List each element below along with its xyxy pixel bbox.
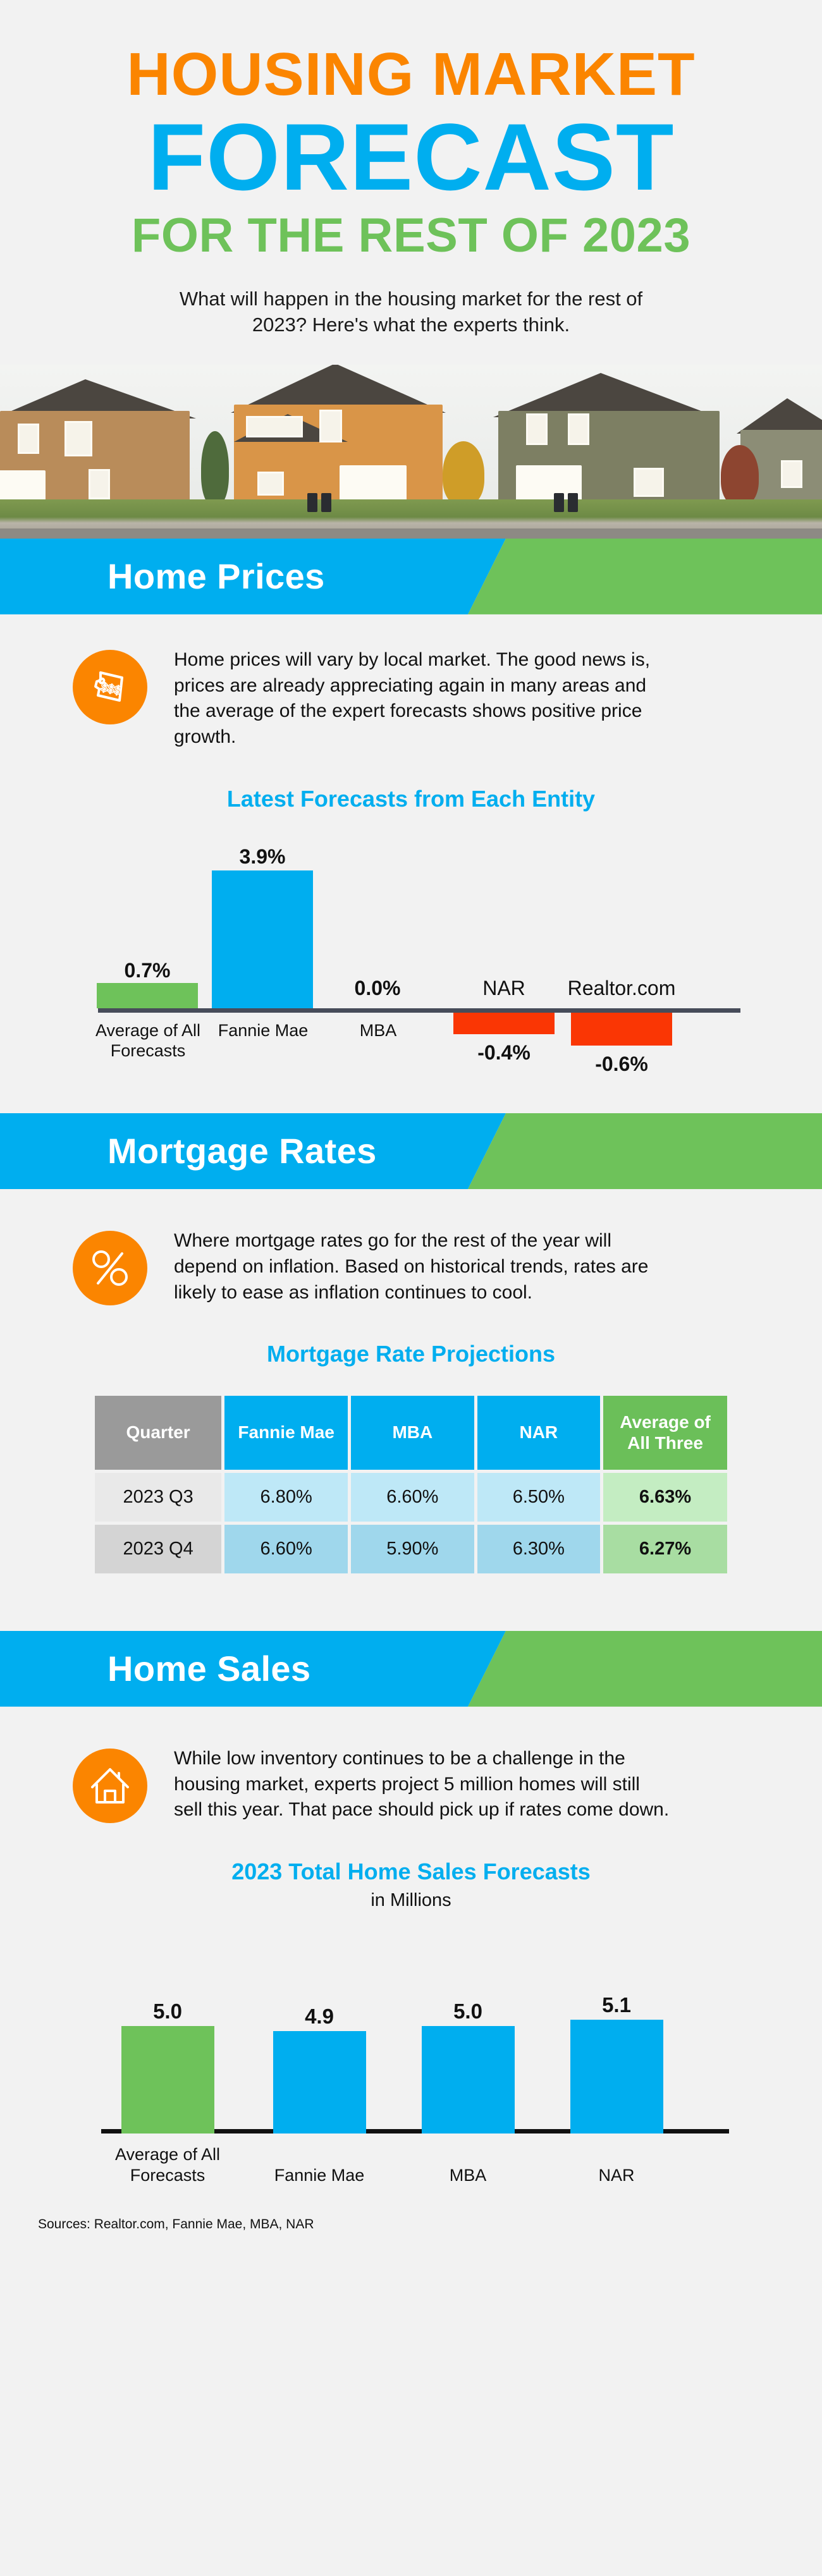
chart2-bar-2 bbox=[422, 2026, 515, 2133]
house-icon bbox=[73, 1749, 147, 1823]
cell-nar: 6.30% bbox=[477, 1525, 600, 1573]
house-3-window-b bbox=[568, 413, 589, 445]
chart2-label-1: Fannie Mae bbox=[247, 2165, 392, 2185]
chart1-value-2: 0.0% bbox=[322, 977, 433, 1000]
table-header-row: Quarter Fannie Mae MBA NAR Average of Al… bbox=[95, 1396, 727, 1469]
cell-quarter: 2023 Q3 bbox=[95, 1473, 221, 1522]
chart2-bar-0 bbox=[121, 2026, 214, 2133]
chart1-title: Latest Forecasts from Each Entity bbox=[0, 786, 822, 812]
section-title-home-prices: Home Prices bbox=[0, 539, 822, 614]
chart1-value-4: -0.6% bbox=[566, 1053, 677, 1076]
cell-nar: 6.50% bbox=[477, 1473, 600, 1522]
house-2-window-b bbox=[319, 410, 342, 443]
home-sales-body: While low inventory continues to be a ch… bbox=[174, 1746, 673, 1823]
trash-bin-3 bbox=[554, 493, 564, 512]
chart1-value-0: 0.7% bbox=[92, 959, 203, 982]
chart-total-home-sales: 5.0 Average of All Forecasts 4.9 Fannie … bbox=[66, 1934, 756, 2193]
chart1-label-0: Average of All Forecasts bbox=[88, 1021, 208, 1061]
header-average-all-three: Average of All Three bbox=[603, 1396, 727, 1469]
house-4-roof bbox=[737, 398, 822, 434]
chart1-column-1: 3.9% Fannie Mae bbox=[207, 839, 317, 1092]
house-4-window-a bbox=[781, 460, 802, 488]
cell-fannie-mae: 6.80% bbox=[224, 1473, 348, 1522]
page-title-line3: FOR THE REST OF 2023 bbox=[0, 212, 822, 260]
chart2-column-1: 4.9 Fannie Mae bbox=[247, 1934, 392, 2193]
chart2-bar-3 bbox=[570, 2020, 663, 2133]
rate-table-title: Mortgage Rate Projections bbox=[0, 1341, 822, 1367]
chart1-column-3: NAR -0.4% bbox=[448, 839, 559, 1092]
house-3-window-c bbox=[634, 468, 664, 497]
chart2-label-2: MBA bbox=[395, 2165, 541, 2185]
chart2-subtitle: in Millions bbox=[0, 1890, 822, 1911]
table-row: 2023 Q4 6.60% 5.90% 6.30% 6.27% bbox=[95, 1525, 727, 1573]
mortgage-rates-body: Where mortgage rates go for the rest of … bbox=[174, 1228, 673, 1305]
chart2-value-0: 5.0 bbox=[95, 1999, 240, 2024]
house-1-window-b bbox=[64, 421, 92, 456]
home-prices-body: Home prices will vary by local market. T… bbox=[174, 647, 673, 750]
cell-average: 6.63% bbox=[603, 1473, 727, 1522]
mortgage-rate-projections-table: Quarter Fannie Mae MBA NAR Average of Al… bbox=[92, 1393, 730, 1576]
section-title-home-sales: Home Sales bbox=[0, 1631, 822, 1707]
infographic-page: HOUSING MARKET FORECAST FOR THE REST OF … bbox=[0, 0, 822, 2576]
chart2-column-2: 5.0 MBA bbox=[395, 1934, 541, 2193]
cell-quarter: 2023 Q4 bbox=[95, 1525, 221, 1573]
cell-mba: 5.90% bbox=[351, 1525, 474, 1573]
house-1 bbox=[0, 379, 202, 506]
house-2 bbox=[218, 365, 458, 506]
chart2-label-3: NAR bbox=[544, 2165, 689, 2185]
section-banner-mortgage-rates: Mortgage Rates bbox=[0, 1113, 822, 1189]
chart2-title: 2023 Total Home Sales Forecasts bbox=[0, 1859, 822, 1885]
chart1-value-3: -0.4% bbox=[448, 1041, 560, 1065]
chart2-column-0: 5.0 Average of All Forecasts bbox=[95, 1934, 240, 2193]
header-mba: MBA bbox=[351, 1396, 474, 1469]
home-sales-intro: While low inventory continues to be a ch… bbox=[0, 1707, 822, 1823]
chart2-value-1: 4.9 bbox=[247, 2005, 392, 2029]
section-banner-home-sales: Home Sales bbox=[0, 1631, 822, 1707]
chart2-value-3: 5.1 bbox=[544, 1993, 689, 2017]
section-title-mortgage-rates: Mortgage Rates bbox=[0, 1113, 822, 1189]
chart1-bar-3 bbox=[453, 1013, 555, 1034]
page-title-line1: HOUSING MARKET bbox=[0, 44, 822, 105]
trash-bin-1 bbox=[307, 493, 317, 512]
chart1-bar-0 bbox=[97, 983, 198, 1008]
chart2-value-2: 5.0 bbox=[395, 1999, 541, 2024]
house-1-window-a bbox=[18, 424, 39, 454]
photo-road bbox=[0, 528, 822, 539]
price-tag-dollar-icon: $$$ bbox=[73, 650, 147, 724]
cell-average: 6.27% bbox=[603, 1525, 727, 1573]
neighborhood-photo bbox=[0, 365, 822, 539]
house-3-window-a bbox=[526, 413, 548, 445]
chart1-bar-4 bbox=[571, 1013, 672, 1046]
header-fannie-mae: Fannie Mae bbox=[224, 1396, 348, 1469]
trash-bin-4 bbox=[568, 493, 578, 512]
home-prices-intro: $$$ Home prices will vary by local marke… bbox=[0, 614, 822, 750]
sources-note: Sources: Realtor.com, Fannie Mae, MBA, N… bbox=[0, 2193, 822, 2257]
header-nar: NAR bbox=[477, 1396, 600, 1469]
cell-mba: 6.60% bbox=[351, 1473, 474, 1522]
chart-latest-forecasts: 0.7% Average of All Forecasts 3.9% Fanni… bbox=[66, 839, 756, 1092]
chart1-label-3: NAR bbox=[448, 977, 560, 1000]
header: HOUSING MARKET FORECAST FOR THE REST OF … bbox=[0, 0, 822, 338]
chart1-column-2: 0.0% MBA bbox=[322, 839, 432, 1092]
table-row: 2023 Q3 6.80% 6.60% 6.50% 6.63% bbox=[95, 1473, 727, 1522]
page-subtitle: What will happen in the housing market f… bbox=[152, 286, 670, 338]
mortgage-rates-intro: Where mortgage rates go for the rest of … bbox=[0, 1189, 822, 1305]
chart1-label-2: MBA bbox=[318, 1021, 438, 1041]
house-2-window-a bbox=[246, 416, 303, 437]
autumn-tree bbox=[443, 441, 484, 506]
section-banner-home-prices: Home Prices bbox=[0, 539, 822, 614]
trash-bin-2 bbox=[321, 493, 331, 512]
page-title-line2: FORECAST bbox=[0, 109, 822, 205]
header-quarter: Quarter bbox=[95, 1396, 221, 1469]
evergreen-tree bbox=[201, 431, 229, 506]
chart1-bar-1 bbox=[212, 870, 313, 1008]
percent-icon bbox=[73, 1231, 147, 1305]
chart2-bar-1 bbox=[273, 2031, 366, 2133]
red-maple-tree bbox=[721, 445, 759, 506]
chart1-label-4: Realtor.com bbox=[566, 977, 677, 1000]
house-2-garage-door bbox=[340, 465, 407, 504]
chart2-column-3: 5.1 NAR bbox=[544, 1934, 689, 2193]
chart1-column-0: 0.7% Average of All Forecasts bbox=[92, 839, 202, 1092]
chart1-label-1: Fannie Mae bbox=[203, 1021, 323, 1041]
chart1-value-1: 3.9% bbox=[207, 845, 318, 869]
house-3 bbox=[487, 373, 733, 506]
chart2-label-0: Average of All Forecasts bbox=[95, 2144, 240, 2185]
chart1-column-4: Realtor.com -0.6% bbox=[566, 839, 677, 1092]
cell-fannie-mae: 6.60% bbox=[224, 1525, 348, 1573]
house-2-window-c bbox=[257, 472, 284, 496]
house-1-window-c bbox=[89, 469, 110, 499]
